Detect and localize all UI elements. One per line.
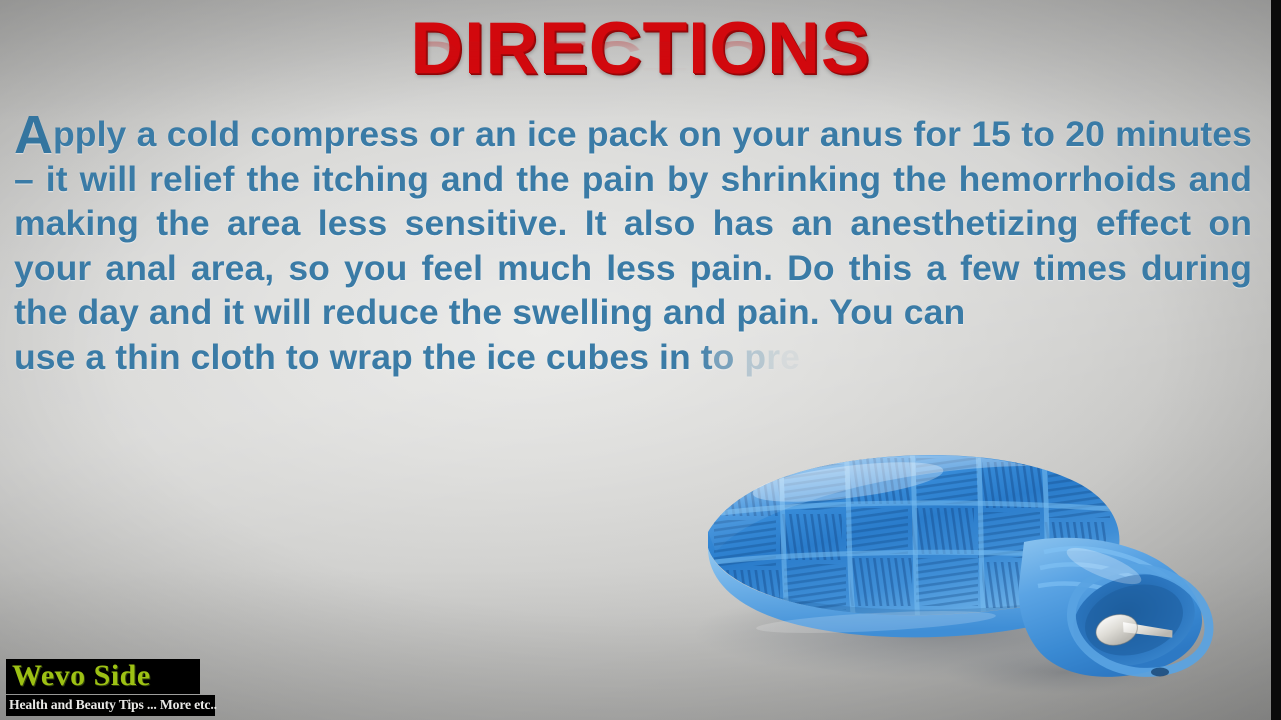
drop-cap-letter: A	[14, 105, 53, 165]
fade-char-5: r	[766, 337, 780, 377]
paragraph-body: pply a cold compress or an ice pack on y…	[14, 114, 1252, 332]
video-slide: DIRECTIONS DIRECTIONS Apply a cold compr…	[0, 0, 1281, 720]
fade-char-1: t	[691, 337, 713, 377]
fade-char-6: e	[780, 337, 800, 377]
logo-name: Wevo Side	[12, 659, 151, 692]
fade-char-4: p	[744, 337, 766, 377]
right-letterbox-bar	[1271, 0, 1281, 720]
hot-water-bottle-image	[672, 436, 1272, 704]
channel-logo: Wevo Side Health and Beauty Tips ... Mor…	[6, 659, 215, 716]
instruction-text-block: Apply a cold compress or an ice pack on …	[14, 112, 1252, 379]
fade-char-3	[734, 337, 744, 377]
logo-name-plate: Wevo Side	[6, 659, 200, 694]
logo-tagline: Health and Beauty Tips ... More etc..	[9, 698, 217, 712]
instruction-last-line: use a thin cloth to wrap the ice cubes i…	[14, 335, 1252, 380]
last-line-fading: to pre	[691, 337, 800, 377]
logo-tagline-plate: Health and Beauty Tips ... More etc..	[6, 695, 215, 716]
last-line-visible: use a thin cloth to wrap the ice cubes i…	[14, 337, 691, 377]
fade-char-2: o	[713, 337, 735, 377]
instruction-paragraph: Apply a cold compress or an ice pack on …	[14, 112, 1252, 335]
